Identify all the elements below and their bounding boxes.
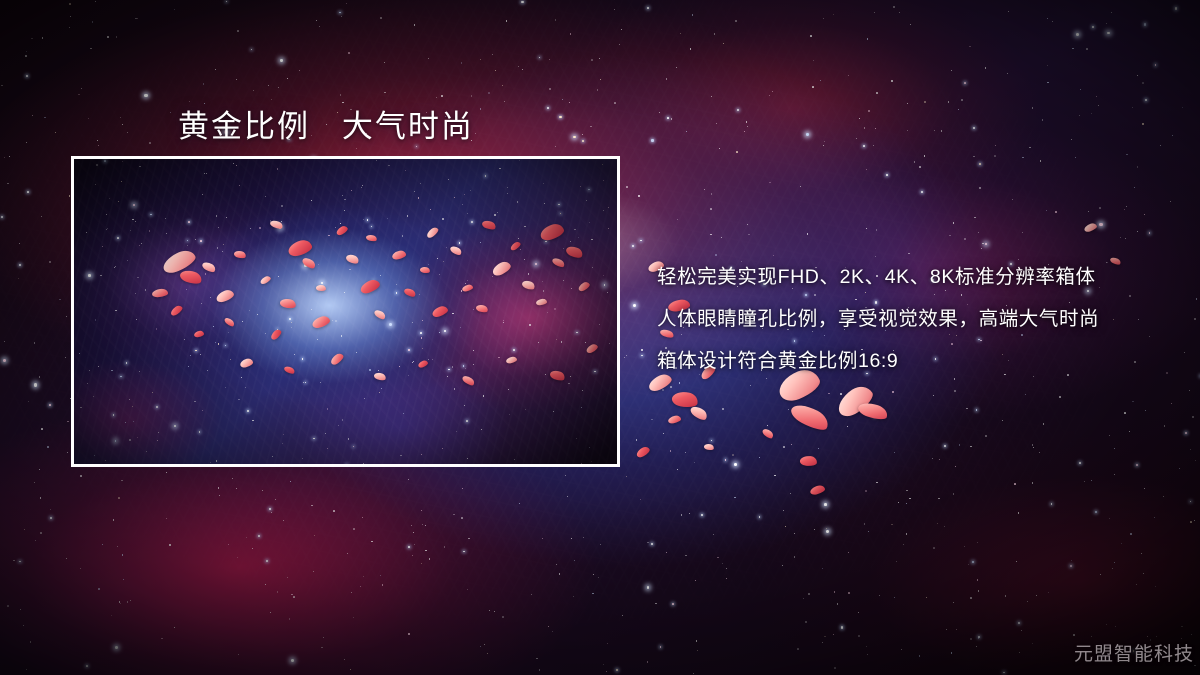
body-line-1: 轻松完美实现FHD、2K、4K、8K标准分辨率箱体: [657, 256, 1157, 298]
framed-image-vignette: [74, 159, 617, 464]
page-title: 黄金比例 大气时尚: [178, 101, 474, 146]
body-copy: 轻松完美实现FHD、2K、4K、8K标准分辨率箱体 人体眼睛瞳孔比例，享受视觉效…: [657, 256, 1157, 382]
framed-image-content: [74, 159, 617, 464]
body-line-3: 箱体设计符合黄金比例16:9: [657, 340, 1157, 382]
presentation-slide: 黄金比例 大气时尚 轻松完美实现FHD、2K、4K、8K标准分辨率箱体 人体眼睛…: [0, 0, 1200, 675]
watermark: 元盟智能科技: [1074, 639, 1194, 666]
body-line-2: 人体眼睛瞳孔比例，享受视觉效果，高端大气时尚: [657, 298, 1157, 340]
framed-image: [71, 156, 620, 467]
